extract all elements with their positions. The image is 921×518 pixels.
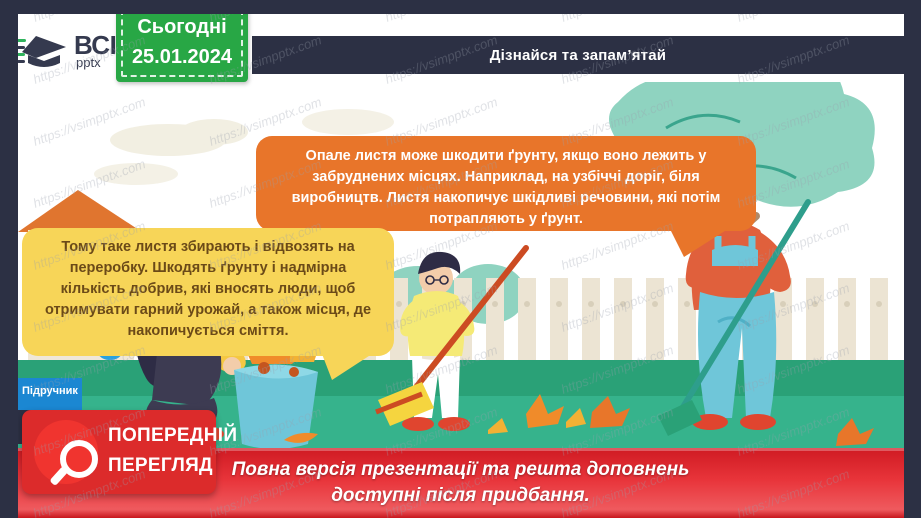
footer-line-1: Повна версія презентації та решта доповн… xyxy=(232,459,690,480)
speech-bubble-orange-tail xyxy=(670,229,728,257)
speech-bubble-yellow-tail xyxy=(322,354,372,380)
magnifier-handle xyxy=(49,466,68,486)
date-badge: Сьогодні 25.01.2024 xyxy=(116,4,248,82)
textbook-label-text: Підручник xyxy=(18,378,82,397)
speech-bubble-yellow: Тому таке листя збирають і відвозять на … xyxy=(22,228,394,356)
graduation-cap-icon xyxy=(14,30,72,74)
logo-subtext: pptx xyxy=(76,56,101,69)
footer-line-2: доступні після придбання. xyxy=(331,485,590,506)
speech-bubble-orange: Опале листя може шкодити ґрунту, якщо во… xyxy=(256,136,756,231)
speech-bubble-yellow-text: Тому таке листя збирають і відвозять на … xyxy=(22,228,394,342)
frame-right xyxy=(904,0,921,518)
preview-badge[interactable]: ПОПЕРЕДНІЙ ПЕРЕГЛЯД xyxy=(22,410,216,494)
frame-top xyxy=(0,0,921,14)
presentation-slide: ВСІМ pptx Сьогодні 25.01.2024 Дізнайся т… xyxy=(0,0,921,518)
date-badge-label: Сьогодні xyxy=(116,16,248,39)
slide-title-bar: Дізнайся та запам’ятай xyxy=(252,36,904,74)
magnifier-icon xyxy=(34,420,98,484)
date-badge-value: 25.01.2024 xyxy=(116,46,248,69)
preview-badge-line-2: ПЕРЕГЛЯД xyxy=(108,456,213,475)
frame-left xyxy=(0,0,18,518)
textbook-label-box: Підручник xyxy=(18,378,82,410)
speech-bubble-orange-text: Опале листя може шкодити ґрунту, якщо во… xyxy=(256,136,756,230)
slide-title: Дізнайся та запам’ятай xyxy=(490,47,666,64)
preview-badge-line-1: ПОПЕРЕДНІЙ xyxy=(108,426,237,445)
